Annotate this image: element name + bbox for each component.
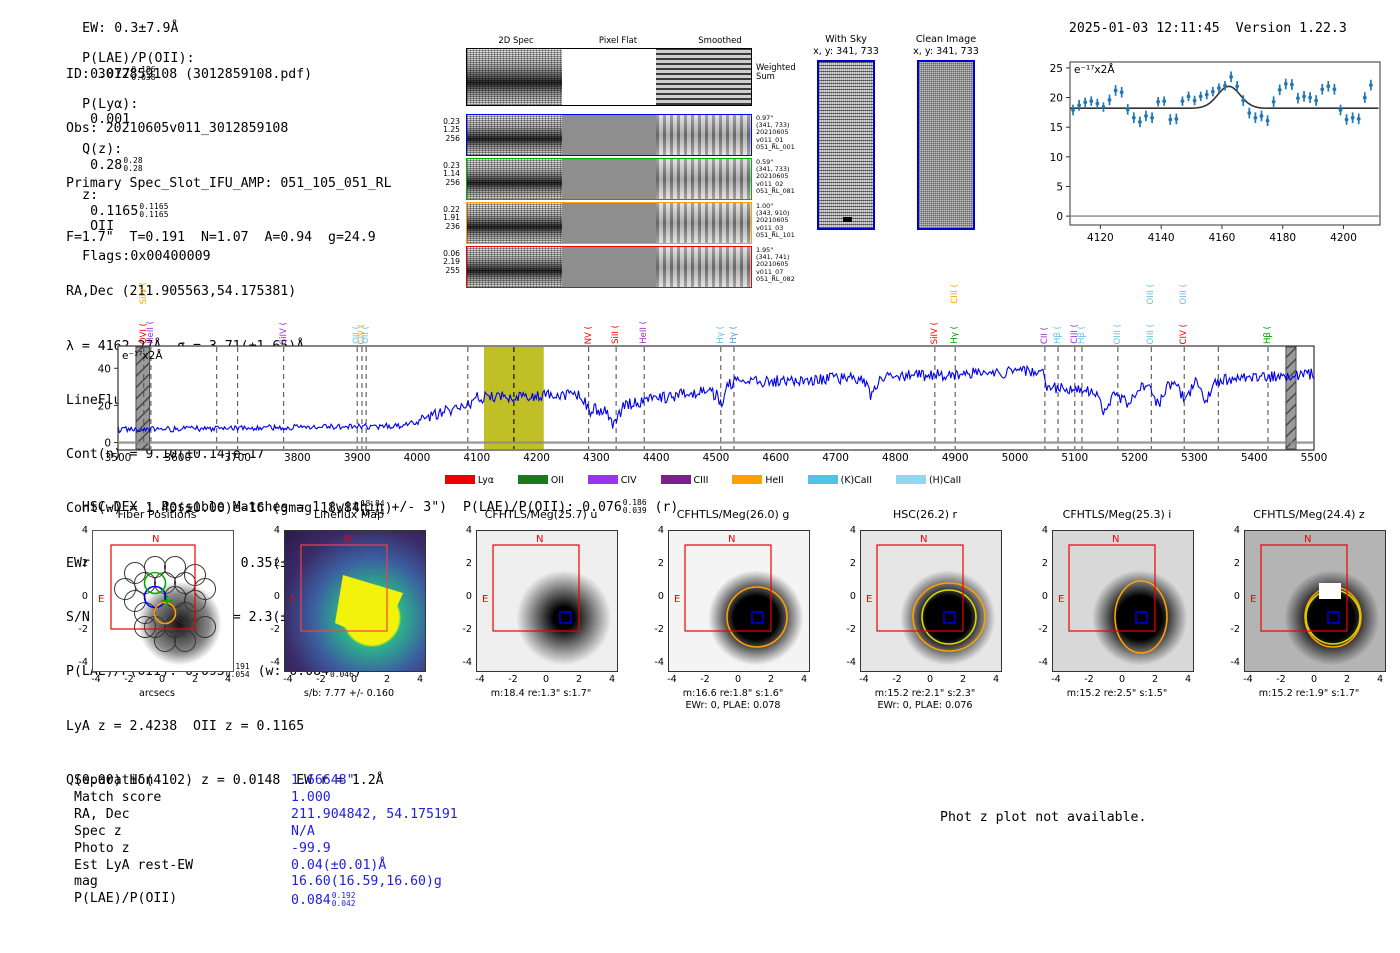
cutout-xtick: 2 xyxy=(951,674,975,685)
match-info-value: 1.000 xyxy=(291,791,458,806)
cutout-ytick: 0 xyxy=(836,591,856,602)
compass-east: E xyxy=(1058,594,1064,605)
cutout-title: CFHTLS/Meg(25.3) i xyxy=(1022,508,1212,521)
cutout-caption: s/b: 7.77 +/- 0.160 xyxy=(254,688,444,700)
compass-east: E xyxy=(98,594,104,605)
cutout-title: CFHTLS/Meg(26.0) g xyxy=(638,508,828,521)
cutout-ytick: 4 xyxy=(836,525,856,536)
cutout-caption: m:15.2 re:2.5" s:1.5" xyxy=(1022,688,1212,700)
cutout-ytick: -4 xyxy=(1028,657,1048,668)
compass-north: N xyxy=(536,534,543,545)
weighted-sum-label: Weighted Sum xyxy=(756,63,796,82)
svg-text:20: 20 xyxy=(98,400,111,412)
compass-north: N xyxy=(152,534,159,545)
cutout-title: CFHTLS/Meg(25.7) u xyxy=(446,508,636,521)
svg-text:4180: 4180 xyxy=(1269,232,1296,244)
svg-text:15: 15 xyxy=(1050,122,1063,134)
spec2d-cell-pixelflat xyxy=(562,159,657,199)
cutout-xtick: 2 xyxy=(759,674,783,685)
spec2d-right-label: 051_RL_101 xyxy=(756,232,810,239)
compass-east: E xyxy=(866,594,872,605)
with-sky-title: With Sky xyxy=(806,34,886,46)
cutout-xtick: -4 xyxy=(84,674,108,685)
cutout-image[interactable] xyxy=(860,530,1002,672)
spectrum-xtick: 5400 xyxy=(1232,452,1276,464)
emission-line-label: Hβ ( xyxy=(1263,326,1273,344)
cutout-ytick: 0 xyxy=(644,591,664,602)
cutout-ytick: 0 xyxy=(452,591,472,602)
emission-line-label: SiIV ( xyxy=(930,322,940,344)
cutout-ytick: -4 xyxy=(260,657,280,668)
spec2d-title-2dspec: 2D Spec xyxy=(466,36,566,46)
emission-line-label: SiIV ( xyxy=(139,282,149,304)
cutout-ytick: 4 xyxy=(68,525,88,536)
cutout-ytick: -2 xyxy=(1220,624,1240,635)
cutout-caption-2: EWr: 0, PLAE: 0.076 xyxy=(830,700,1020,712)
emission-line-label: OIII ( xyxy=(1113,324,1123,344)
spec2d-right-label: 051_RL_001 xyxy=(756,144,810,151)
spectrum-xtick: 4400 xyxy=(634,452,678,464)
emission-line-label: Hβ ( xyxy=(1053,326,1063,344)
spectrum-xtick: 4800 xyxy=(873,452,917,464)
cutout-xtick: 0 xyxy=(534,674,558,685)
match-info-value: 16.60(16.59,16.60)g xyxy=(291,875,458,890)
match-info-row: Photo z-99.9 xyxy=(74,842,458,857)
spectrum-xtick: 3600 xyxy=(156,452,200,464)
compass-north: N xyxy=(1304,534,1311,545)
cutout-image[interactable] xyxy=(668,530,810,672)
match-info-value: N/A xyxy=(291,825,458,840)
cutout-ytick: 4 xyxy=(1220,525,1240,536)
cutout-xtick: 4 xyxy=(408,674,432,685)
cutout-title: HSC(26.2) r xyxy=(830,508,1020,521)
svg-text:20: 20 xyxy=(1050,93,1063,105)
match-info-label: P(LAE)/P(OII) xyxy=(74,892,289,909)
match-info-row: P(LAE)/P(OII)0.0840.1920.042 xyxy=(74,892,458,909)
cutout-xtick: 4 xyxy=(792,674,816,685)
match-info-value: 1.66648" xyxy=(291,774,458,789)
header-timestamp-version: 2025-01-03 12:11:45 Version 1.22.3 xyxy=(1053,6,1347,36)
match-info-row: mag16.60(16.59,16.60)g xyxy=(74,875,458,890)
spec2d-left-value: 236 xyxy=(414,223,460,231)
weighted-sum-panel xyxy=(466,48,752,106)
svg-text:10: 10 xyxy=(1050,152,1063,164)
spec2d-cell-smoothed xyxy=(656,159,751,199)
spec2d-cell-2dspec xyxy=(467,159,562,199)
cutout-caption-2: EWr: 0, PLAE: 0.078 xyxy=(638,700,828,712)
photz-note: Phot z plot not available. xyxy=(940,810,1146,825)
legend-item: HeII xyxy=(732,468,783,487)
spec2d-cell-2dspec xyxy=(467,115,562,155)
match-info-row: Spec zN/A xyxy=(74,825,458,840)
cutout-xtick: -2 xyxy=(1269,674,1293,685)
cutout-xlabel: arcsecs xyxy=(62,688,252,700)
match-info-value: 0.04(±0.01)Å xyxy=(291,859,458,874)
cutout-xtick: -4 xyxy=(1236,674,1260,685)
match-info-label: Match score xyxy=(74,791,289,806)
emission-line-label: SiIV ( xyxy=(279,322,289,344)
spec2d-row-right-labels: 1.00"(343, 910)20210605v011_03051_RL_101 xyxy=(756,203,810,239)
legend-swatch xyxy=(896,475,926,484)
cutout-xtick: -2 xyxy=(1077,674,1101,685)
clean-image-thumb: Clean Image x, y: 341, 733 xyxy=(906,34,986,230)
svg-text:40: 40 xyxy=(98,363,111,375)
compass-north: N xyxy=(1112,534,1119,545)
cutout-image[interactable] xyxy=(92,530,234,672)
match-info-label: Est LyA rest-EW xyxy=(74,859,289,874)
with-sky-thumb: With Sky x, y: 341, 733 xyxy=(806,34,886,230)
cutout-panel: CFHTLS/Meg(25.3) iNE-4-2024-4-2024m:15.2… xyxy=(1022,508,1212,521)
spec2d-cell-smoothed xyxy=(656,115,751,155)
spec2d-title-smoothed: Smoothed xyxy=(670,36,770,46)
cutout-image[interactable] xyxy=(1052,530,1194,672)
spectrum-xtick: 3800 xyxy=(275,452,319,464)
match-info-value: 211.904842, 54.175191 xyxy=(291,808,458,823)
spec2d-cell-pixelflat xyxy=(562,203,657,243)
cutout-xtick: -4 xyxy=(660,674,684,685)
spec2d-row-left-values: 0.221.91236 xyxy=(414,206,460,231)
cutout-title: Lineflux Map xyxy=(254,508,444,521)
cutout-panel: Lineflux MapNE-4-2024-4-2024s/b: 7.77 +/… xyxy=(254,508,444,521)
full-spectrum-xticks: 3500360037003800390040004100420043004400… xyxy=(88,452,1318,468)
cutout-caption: m:15.2 re:2.1" s:2.3" xyxy=(830,688,1020,700)
cutout-ytick: 2 xyxy=(68,558,88,569)
compass-east: E xyxy=(290,594,296,605)
match-info-label: Spec z xyxy=(74,825,289,840)
match-info-row: Est LyA rest-EW0.04(±0.01)Å xyxy=(74,859,458,874)
cutout-xtick: 2 xyxy=(1143,674,1167,685)
cutout-xtick: -2 xyxy=(885,674,909,685)
cutout-ytick: 2 xyxy=(260,558,280,569)
cutout-xtick: -4 xyxy=(276,674,300,685)
spec2d-row-panel xyxy=(466,114,752,156)
emission-line-label: NV ( xyxy=(584,326,594,344)
compass-north: N xyxy=(920,534,927,545)
legend-swatch xyxy=(518,475,548,484)
spec2d-cell-pixelflat xyxy=(562,115,657,155)
spec2d-cell-2dspec xyxy=(467,203,562,243)
spectrum-xtick: 4900 xyxy=(933,452,977,464)
info-primary-spec: Primary Spec_Slot_IFU_AMP: 051_105_051_R… xyxy=(66,175,393,193)
cutout-panel: CFHTLS/Meg(24.4) zNE-4-2024-4-2024m:15.2… xyxy=(1214,508,1400,521)
full-spectrum-chart: SiIV (OVI (HeII (SiIV (OII (CIV (OII (NV… xyxy=(88,272,1318,484)
cutout-ytick: -4 xyxy=(644,657,664,668)
spectrum-xtick: 4600 xyxy=(754,452,798,464)
spectrum-xtick: 5500 xyxy=(1292,452,1336,464)
cutout-xtick: -2 xyxy=(693,674,717,685)
cutout-ytick: 4 xyxy=(260,525,280,536)
cutout-image[interactable] xyxy=(476,530,618,672)
cutout-xtick: 2 xyxy=(375,674,399,685)
spectrum-xtick: 4100 xyxy=(455,452,499,464)
cutout-caption: m:18.4 re:1.3" s:1.7" xyxy=(446,688,636,700)
emission-line-label: OIII ( xyxy=(1179,284,1189,304)
match-info-row: Match score1.000 xyxy=(74,791,458,806)
cutout-xtick: 0 xyxy=(1302,674,1326,685)
match-info-value: 0.0840.1920.042 xyxy=(291,892,458,909)
cutout-caption: m:16.6 re:1.8" s:1.6" xyxy=(638,688,828,700)
svg-text:25: 25 xyxy=(1050,63,1063,75)
cutout-ytick: 4 xyxy=(1028,525,1048,536)
match-info-label: Photo z xyxy=(74,842,289,857)
cutout-xtick: -2 xyxy=(117,674,141,685)
svg-text:5: 5 xyxy=(1056,181,1063,193)
cutout-xtick: 0 xyxy=(726,674,750,685)
legend-label: CIII xyxy=(691,475,709,486)
spec2d-cell-smoothed xyxy=(656,203,751,243)
match-info-label: RA, Dec xyxy=(74,808,289,823)
match-info-row: RA, Dec211.904842, 54.175191 xyxy=(74,808,458,823)
svg-text:4120: 4120 xyxy=(1087,232,1114,244)
emission-line-label: Hγ ( xyxy=(950,326,960,344)
spectrum-xtick: 4200 xyxy=(515,452,559,464)
info-redshifts: LyA z = 2.4238 OII z = 0.1165 xyxy=(66,718,393,736)
match-info-table: Separation1.66648"Match score1.000RA, De… xyxy=(72,772,460,911)
spectrum-xtick: 5300 xyxy=(1172,452,1216,464)
cutout-ytick: -2 xyxy=(260,624,280,635)
info-obs: Obs: 20210605v011_3012859108 xyxy=(66,120,393,138)
cutout-xtick: 4 xyxy=(216,674,240,685)
spec2d-title-pixelflat: Pixel Flat xyxy=(568,36,668,46)
legend-item: (K)CaII xyxy=(808,468,872,487)
cutout-ytick: 2 xyxy=(1220,558,1240,569)
match-info-value-lo: 0.042 xyxy=(332,900,356,908)
compass-east: E xyxy=(482,594,488,605)
with-sky-image xyxy=(817,60,875,230)
cutout-xtick: -4 xyxy=(1044,674,1068,685)
clean-image-image xyxy=(917,60,975,230)
spectrum-xtick: 4500 xyxy=(694,452,738,464)
cutout-xtick: 0 xyxy=(342,674,366,685)
cutout-image[interactable] xyxy=(1244,530,1386,672)
cutout-ytick: -4 xyxy=(452,657,472,668)
cutout-ytick: 2 xyxy=(452,558,472,569)
cutout-ytick: 4 xyxy=(644,525,664,536)
compass-north: N xyxy=(728,534,735,545)
spectrum-xtick: 4700 xyxy=(814,452,858,464)
emission-line-label: OIII ( xyxy=(1146,284,1156,304)
info-seeing: F=1.7" T=0.191 N=1.07 A=0.94 g=24.9 xyxy=(66,229,393,247)
svg-text:0: 0 xyxy=(1056,211,1063,223)
spec2d-row-panel xyxy=(466,202,752,244)
cutout-ytick: -2 xyxy=(836,624,856,635)
emission-line-label: Hγ ( xyxy=(716,326,726,344)
cutout-ytick: 0 xyxy=(1028,591,1048,602)
cutout-ytick: 0 xyxy=(260,591,280,602)
compass-north: N xyxy=(344,534,351,545)
svg-text:e⁻¹⁷x2Å: e⁻¹⁷x2Å xyxy=(1074,63,1115,76)
cutout-xtick: 4 xyxy=(984,674,1008,685)
cutout-ytick: 0 xyxy=(68,591,88,602)
cutout-panel: CFHTLS/Meg(25.7) uNE-4-2024-4-2024m:18.4… xyxy=(446,508,636,521)
emission-line-label: Hγ ( xyxy=(729,326,739,344)
cutout-ytick: -4 xyxy=(68,657,88,668)
version-label: Version 1.22.3 xyxy=(1236,21,1347,36)
cutout-ytick: -4 xyxy=(1220,657,1240,668)
spec2d-right-label: 051_RL_081 xyxy=(756,188,810,195)
full-spectrum-svg: 02040e⁻¹⁷x2Å xyxy=(88,344,1318,452)
cutout-xtick: -4 xyxy=(852,674,876,685)
spectrum-xtick: 3700 xyxy=(216,452,260,464)
emission-line-label: CIII ( xyxy=(950,284,960,304)
spectrum-xtick: 5000 xyxy=(993,452,1037,464)
cutout-ytick: -4 xyxy=(836,657,856,668)
with-sky-coords: x, y: 341, 733 xyxy=(806,46,886,58)
spec2d-row-panel xyxy=(466,158,752,200)
spec2d-left-value: 256 xyxy=(414,135,460,143)
emission-line-fit-chart: 051015202541204140416041804200e⁻¹⁷x2Å xyxy=(1036,50,1388,259)
svg-text:4160: 4160 xyxy=(1209,232,1236,244)
cutout-panel: Fiber PositionsNE-4-2024-4-2024arcsecs xyxy=(62,508,252,521)
emission-line-label: CII ( xyxy=(1040,327,1050,344)
compass-east: E xyxy=(674,594,680,605)
legend-swatch xyxy=(445,475,475,484)
svg-text:e⁻¹⁷x2Å: e⁻¹⁷x2Å xyxy=(122,349,163,362)
match-info-label: mag xyxy=(74,875,289,890)
legend-label: HeII xyxy=(762,475,783,486)
cutout-xtick: 2 xyxy=(1335,674,1359,685)
cutout-xtick: 0 xyxy=(1110,674,1134,685)
cutout-ytick: 2 xyxy=(644,558,664,569)
clean-image-coords: x, y: 341, 733 xyxy=(906,46,986,58)
spectrum-xtick: 3900 xyxy=(335,452,379,464)
clean-image-title: Clean Image xyxy=(906,34,986,46)
emission-line-label: Hβ ( xyxy=(1077,326,1087,344)
cutout-ytick: -2 xyxy=(1028,624,1048,635)
cutout-xtick: 4 xyxy=(600,674,624,685)
legend-swatch xyxy=(808,475,838,484)
legend-item: (H)CaII xyxy=(896,468,961,487)
svg-text:4200: 4200 xyxy=(1330,232,1357,244)
cutout-title: Fiber Positions xyxy=(62,508,252,521)
match-info-value: -99.9 xyxy=(291,842,458,857)
cutout-image[interactable] xyxy=(284,530,426,672)
legend-swatch xyxy=(661,475,691,484)
cutout-xtick: 0 xyxy=(150,674,174,685)
emission-line-label: OII ( xyxy=(361,326,371,344)
compass-east: E xyxy=(1250,594,1256,605)
cutout-ytick: 0 xyxy=(1220,591,1240,602)
emission-line-label: HeII ( xyxy=(639,321,649,344)
spectrum-xtick: 3500 xyxy=(96,452,140,464)
cutout-title: CFHTLS/Meg(24.4) z xyxy=(1214,508,1400,521)
legend-swatch xyxy=(732,475,762,484)
cutout-xtick: -2 xyxy=(501,674,525,685)
cutout-xtick: 2 xyxy=(183,674,207,685)
cutout-ytick: 2 xyxy=(836,558,856,569)
spec2d-row-right-labels: 0.97"(341, 733)20210605v011_01051_RL_001 xyxy=(756,115,810,151)
spectrum-xtick: 4300 xyxy=(574,452,618,464)
legend-label: (K)CaII xyxy=(838,475,872,486)
svg-text:4140: 4140 xyxy=(1148,232,1175,244)
cutout-panel: HSC(26.2) rNE-4-2024-4-2024m:15.2 re:2.1… xyxy=(830,508,1020,521)
cutout-xtick: 4 xyxy=(1176,674,1200,685)
cutout-ytick: 4 xyxy=(452,525,472,536)
spectrum-xtick: 5100 xyxy=(1053,452,1097,464)
emission-line-fit-svg: 051015202541204140416041804200e⁻¹⁷x2Å xyxy=(1036,50,1388,255)
cutout-panel: CFHTLS/Meg(26.0) gNE-4-2024-4-2024m:16.6… xyxy=(638,508,828,521)
spec2d-row-left-values: 0.231.25256 xyxy=(414,118,460,143)
cutout-ytick: -2 xyxy=(68,624,88,635)
spectrum-xtick: 5200 xyxy=(1113,452,1157,464)
timestamp: 2025-01-03 12:11:45 xyxy=(1069,21,1220,36)
match-info-label: Separation xyxy=(74,774,289,789)
spec2d-left-value: 256 xyxy=(414,179,460,187)
cutout-ytick: -2 xyxy=(452,624,472,635)
cutout-xtick: 0 xyxy=(918,674,942,685)
spec2d-row-right-labels: 0.59"(341, 733)20210605v011_02051_RL_081 xyxy=(756,159,810,195)
cutout-xtick: -4 xyxy=(468,674,492,685)
spectrum-xtick: 4000 xyxy=(395,452,439,464)
legend-label: (H)CaII xyxy=(926,475,961,486)
cutout-xtick: 4 xyxy=(1368,674,1392,685)
cutout-caption: m:15.2 re:1.9" s:1.7" xyxy=(1214,688,1400,700)
emission-line-label: HeII ( xyxy=(146,321,156,344)
cutout-ytick: -2 xyxy=(644,624,664,635)
emission-line-label: OIII ( xyxy=(1146,324,1156,344)
emission-line-label: SiII ( xyxy=(611,325,621,344)
match-info-row: Separation1.66648" xyxy=(74,774,458,789)
info-id: ID: 3012859108 (3012859108.pdf) xyxy=(66,66,393,84)
legend-swatch xyxy=(588,475,618,484)
emission-line-label: CIV ( xyxy=(1179,324,1189,345)
svg-text:0: 0 xyxy=(104,438,111,450)
spec2d-row-left-values: 0.231.14256 xyxy=(414,162,460,187)
full-spectrum-legend: Lyα OII CIV CIII HeII (K)CaII (H)CaII xyxy=(88,468,1318,484)
emission-line-labels: SiIV (OVI (HeII (SiIV (OII (CIV (OII (NV… xyxy=(88,272,1318,344)
cutout-xtick: 2 xyxy=(567,674,591,685)
cutout-xtick: -2 xyxy=(309,674,333,685)
cutout-ytick: 2 xyxy=(1028,558,1048,569)
